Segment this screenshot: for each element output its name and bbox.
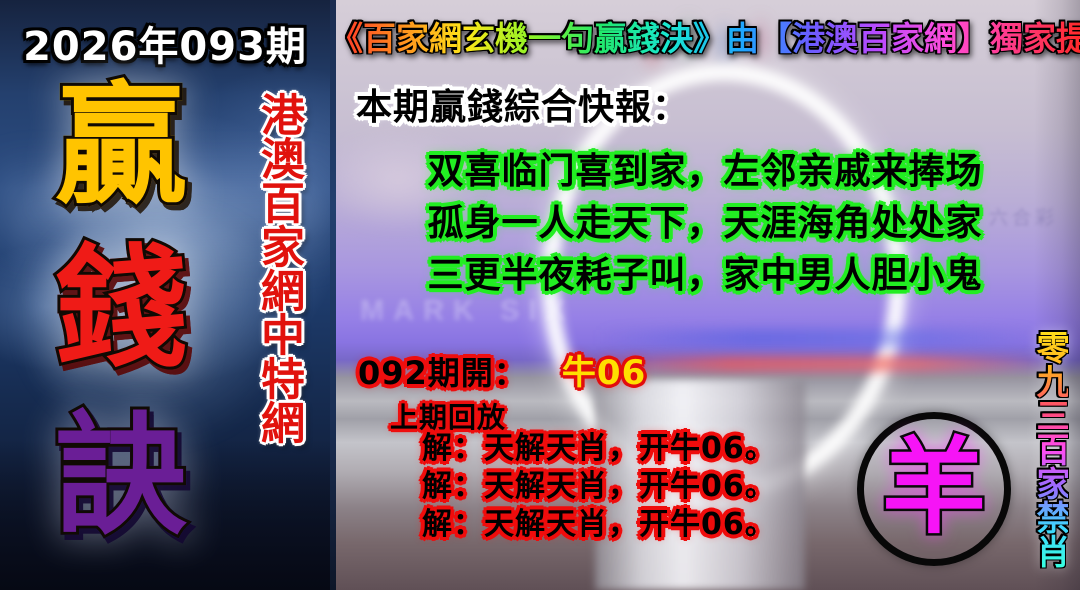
replay-line: 解：天解天肖，开牛06。 — [422, 430, 776, 468]
replay-list: 解：天解天肖，开牛06。 解：天解天肖，开牛06。 解：天解天肖，开牛06。 — [422, 430, 776, 544]
big-char-secret: 訣 — [26, 410, 216, 542]
verse-line: 双喜临门喜到家，左邻亲戚来捧场 — [330, 146, 1080, 198]
zodiac-badge-char: 羊 — [882, 435, 986, 539]
big-char-money: 錢 — [26, 243, 216, 375]
report-title: 本期贏錢綜合快報： — [356, 78, 689, 130]
previous-draw-row: 092期開： 牛06 — [358, 345, 646, 394]
previous-draw-label: 092期開： — [358, 354, 527, 392]
verse-block: 双喜临门喜到家，左邻亲戚来捧场 孤身一人走天下，天涯海角处处家 三更半夜耗子叫，… — [330, 146, 1080, 301]
vertical-side-text: 零九三百家禁肖 — [1016, 330, 1068, 568]
issue-title: 2026年093期 — [0, 14, 330, 72]
replay-line: 解：天解天肖，开牛06。 — [422, 506, 776, 544]
vertical-brand-text: 港澳百家網中特網 — [228, 92, 300, 444]
big-char-win: 贏 — [26, 80, 216, 212]
lottery-poster: 2026年093期 贏 錢 訣 港澳百家網中特網 MARK SIX 六合彩 《百… — [0, 0, 1080, 590]
replay-line: 解：天解天肖，开牛06。 — [422, 468, 776, 506]
zodiac-badge: 羊 — [857, 412, 1011, 566]
main-content-area: MARK SIX 六合彩 《百家網玄機一句贏錢決》由【港澳百家網】獨家提供 本期… — [330, 0, 1080, 590]
header-banner: 《百家網玄機一句贏錢決》由【港澳百家網】獨家提供 — [330, 12, 1080, 60]
left-branding-panel: 2026年093期 贏 錢 訣 港澳百家網中特網 — [0, 0, 330, 590]
verse-line: 三更半夜耗子叫，家中男人胆小鬼 — [330, 250, 1080, 302]
previous-draw-result: 牛06 — [562, 353, 646, 393]
verse-line: 孤身一人走天下，天涯海角处处家 — [330, 198, 1080, 250]
